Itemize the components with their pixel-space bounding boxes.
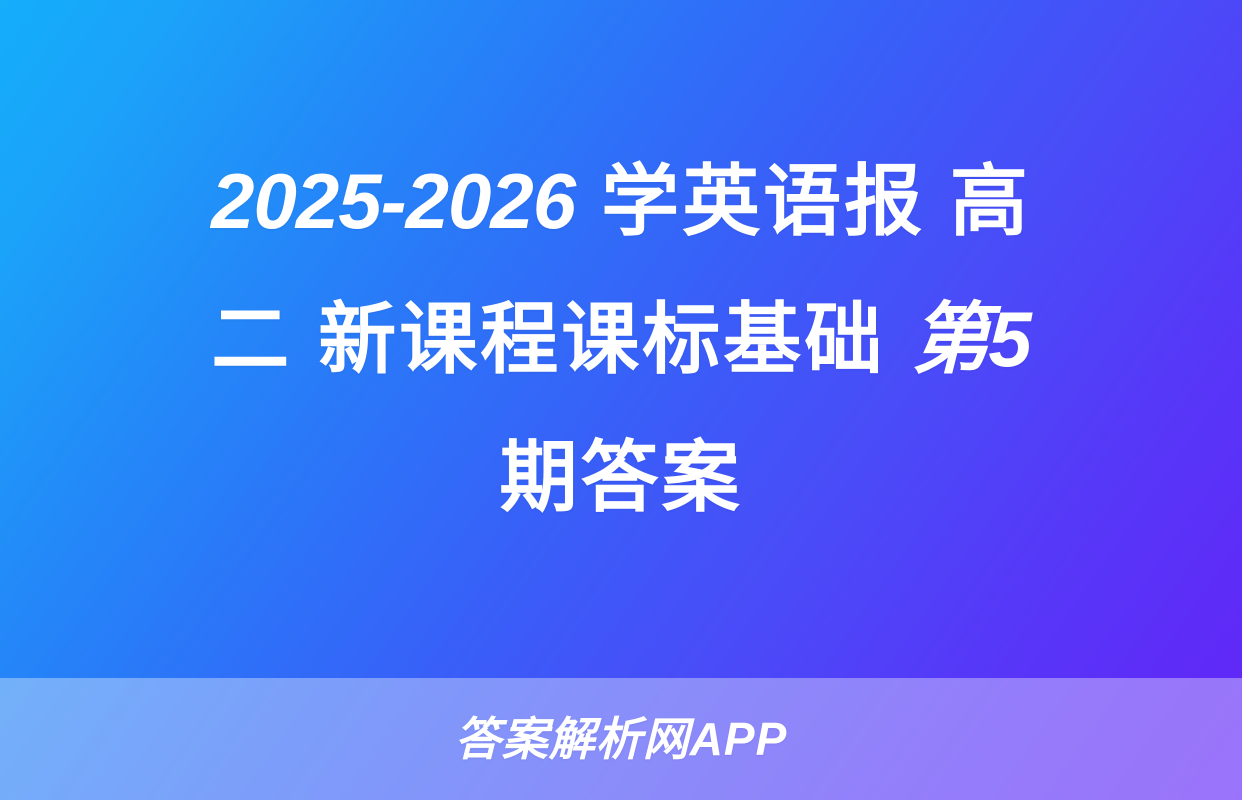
page-title: 2025-2026学英语报 高 二新课程课标基础第5 期答案 bbox=[66, 132, 1176, 546]
title-grade-suffix: 二 bbox=[211, 295, 292, 383]
title-publication-grade: 学英语报 高 bbox=[601, 157, 1031, 245]
title-line-2: 二新课程课标基础第5 bbox=[66, 270, 1176, 408]
brand-footer-band: 答案解析网APP bbox=[0, 678, 1242, 800]
title-line-3: 期答案 bbox=[66, 408, 1176, 546]
title-school-year: 2025-2026 bbox=[211, 157, 575, 245]
title-doc-type: 期答案 bbox=[499, 433, 742, 521]
hero-section: 2025-2026学英语报 高 二新课程课标基础第5 期答案 bbox=[0, 0, 1242, 678]
title-edition: 新课程课标基础 bbox=[318, 295, 885, 383]
title-line-1: 2025-2026学英语报 高 bbox=[66, 132, 1176, 270]
answer-banner-card: 2025-2026学英语报 高 二新课程课标基础第5 期答案 答案解析网APP bbox=[0, 0, 1242, 800]
title-issue: 第5 bbox=[911, 295, 1030, 383]
brand-name-label: 答案解析网APP bbox=[455, 716, 788, 762]
